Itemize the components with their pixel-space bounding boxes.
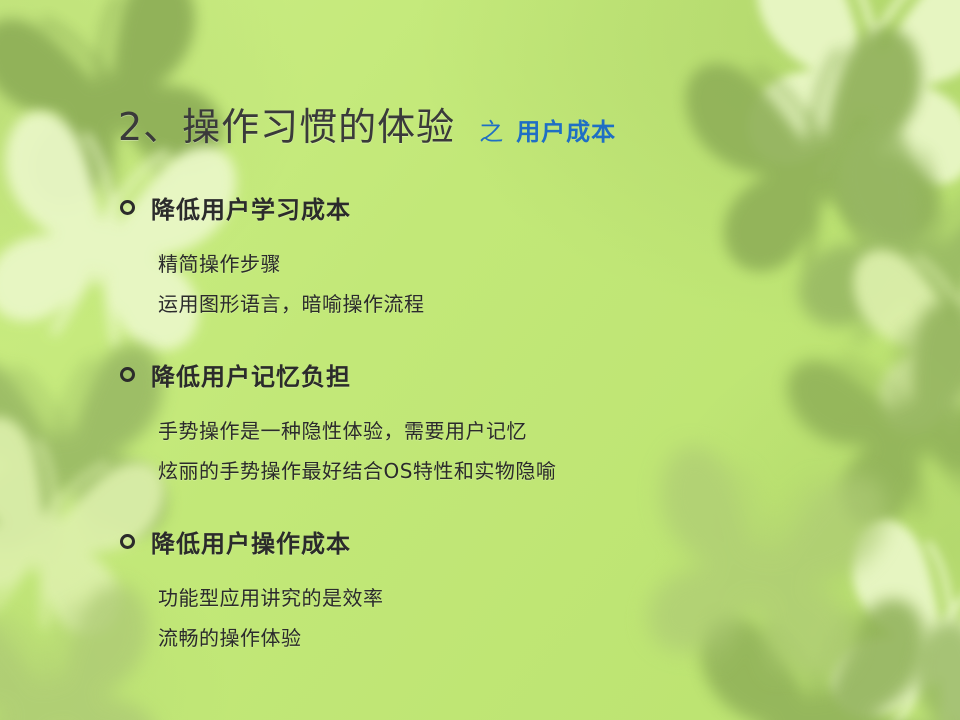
section-line: 手势操作是一种隐性体验，需要用户记忆 [158,411,556,451]
ring-bullet-icon [120,200,135,215]
section-heading-row: 降低用户学习成本 [120,190,425,225]
section-block: 降低用户操作成本 功能型应用讲究的是效率 流畅的操作体验 [120,524,384,658]
title-separator: 之 [479,112,504,147]
section-block: 降低用户学习成本 精简操作步骤 运用图形语言，暗喻操作流程 [120,190,425,324]
section-line: 精简操作步骤 [158,244,425,284]
ring-bullet-icon [120,367,135,382]
section-heading: 降低用户学习成本 [151,190,351,225]
section-heading-row: 降低用户操作成本 [120,524,384,559]
section-lines: 功能型应用讲究的是效率 流畅的操作体验 [158,578,384,658]
page-title: 2、操作习惯的体验 [118,96,455,151]
section-heading: 降低用户记忆负担 [151,357,351,392]
section-block: 降低用户记忆负担 手势操作是一种隐性体验，需要用户记忆 炫丽的手势操作最好结合O… [120,357,556,491]
section-heading: 降低用户操作成本 [151,524,351,559]
section-lines: 精简操作步骤 运用图形语言，暗喻操作流程 [158,244,425,324]
title-subtitle: 用户成本 [516,112,616,147]
ring-bullet-icon [120,534,135,549]
slide-content: 2、操作习惯的体验 之 用户成本 降低用户学习成本 精简操作步骤 运用图形语言，… [0,0,960,720]
section-line: 运用图形语言，暗喻操作流程 [158,284,425,324]
section-line: 流畅的操作体验 [158,618,384,658]
slide-title-row: 2、操作习惯的体验 之 用户成本 [118,96,616,151]
section-line: 功能型应用讲究的是效率 [158,578,384,618]
section-heading-row: 降低用户记忆负担 [120,357,556,392]
section-line: 炫丽的手势操作最好结合OS特性和实物隐喻 [158,451,556,491]
slide-canvas: 2、操作习惯的体验 之 用户成本 降低用户学习成本 精简操作步骤 运用图形语言，… [0,0,960,720]
section-lines: 手势操作是一种隐性体验，需要用户记忆 炫丽的手势操作最好结合OS特性和实物隐喻 [158,411,556,491]
